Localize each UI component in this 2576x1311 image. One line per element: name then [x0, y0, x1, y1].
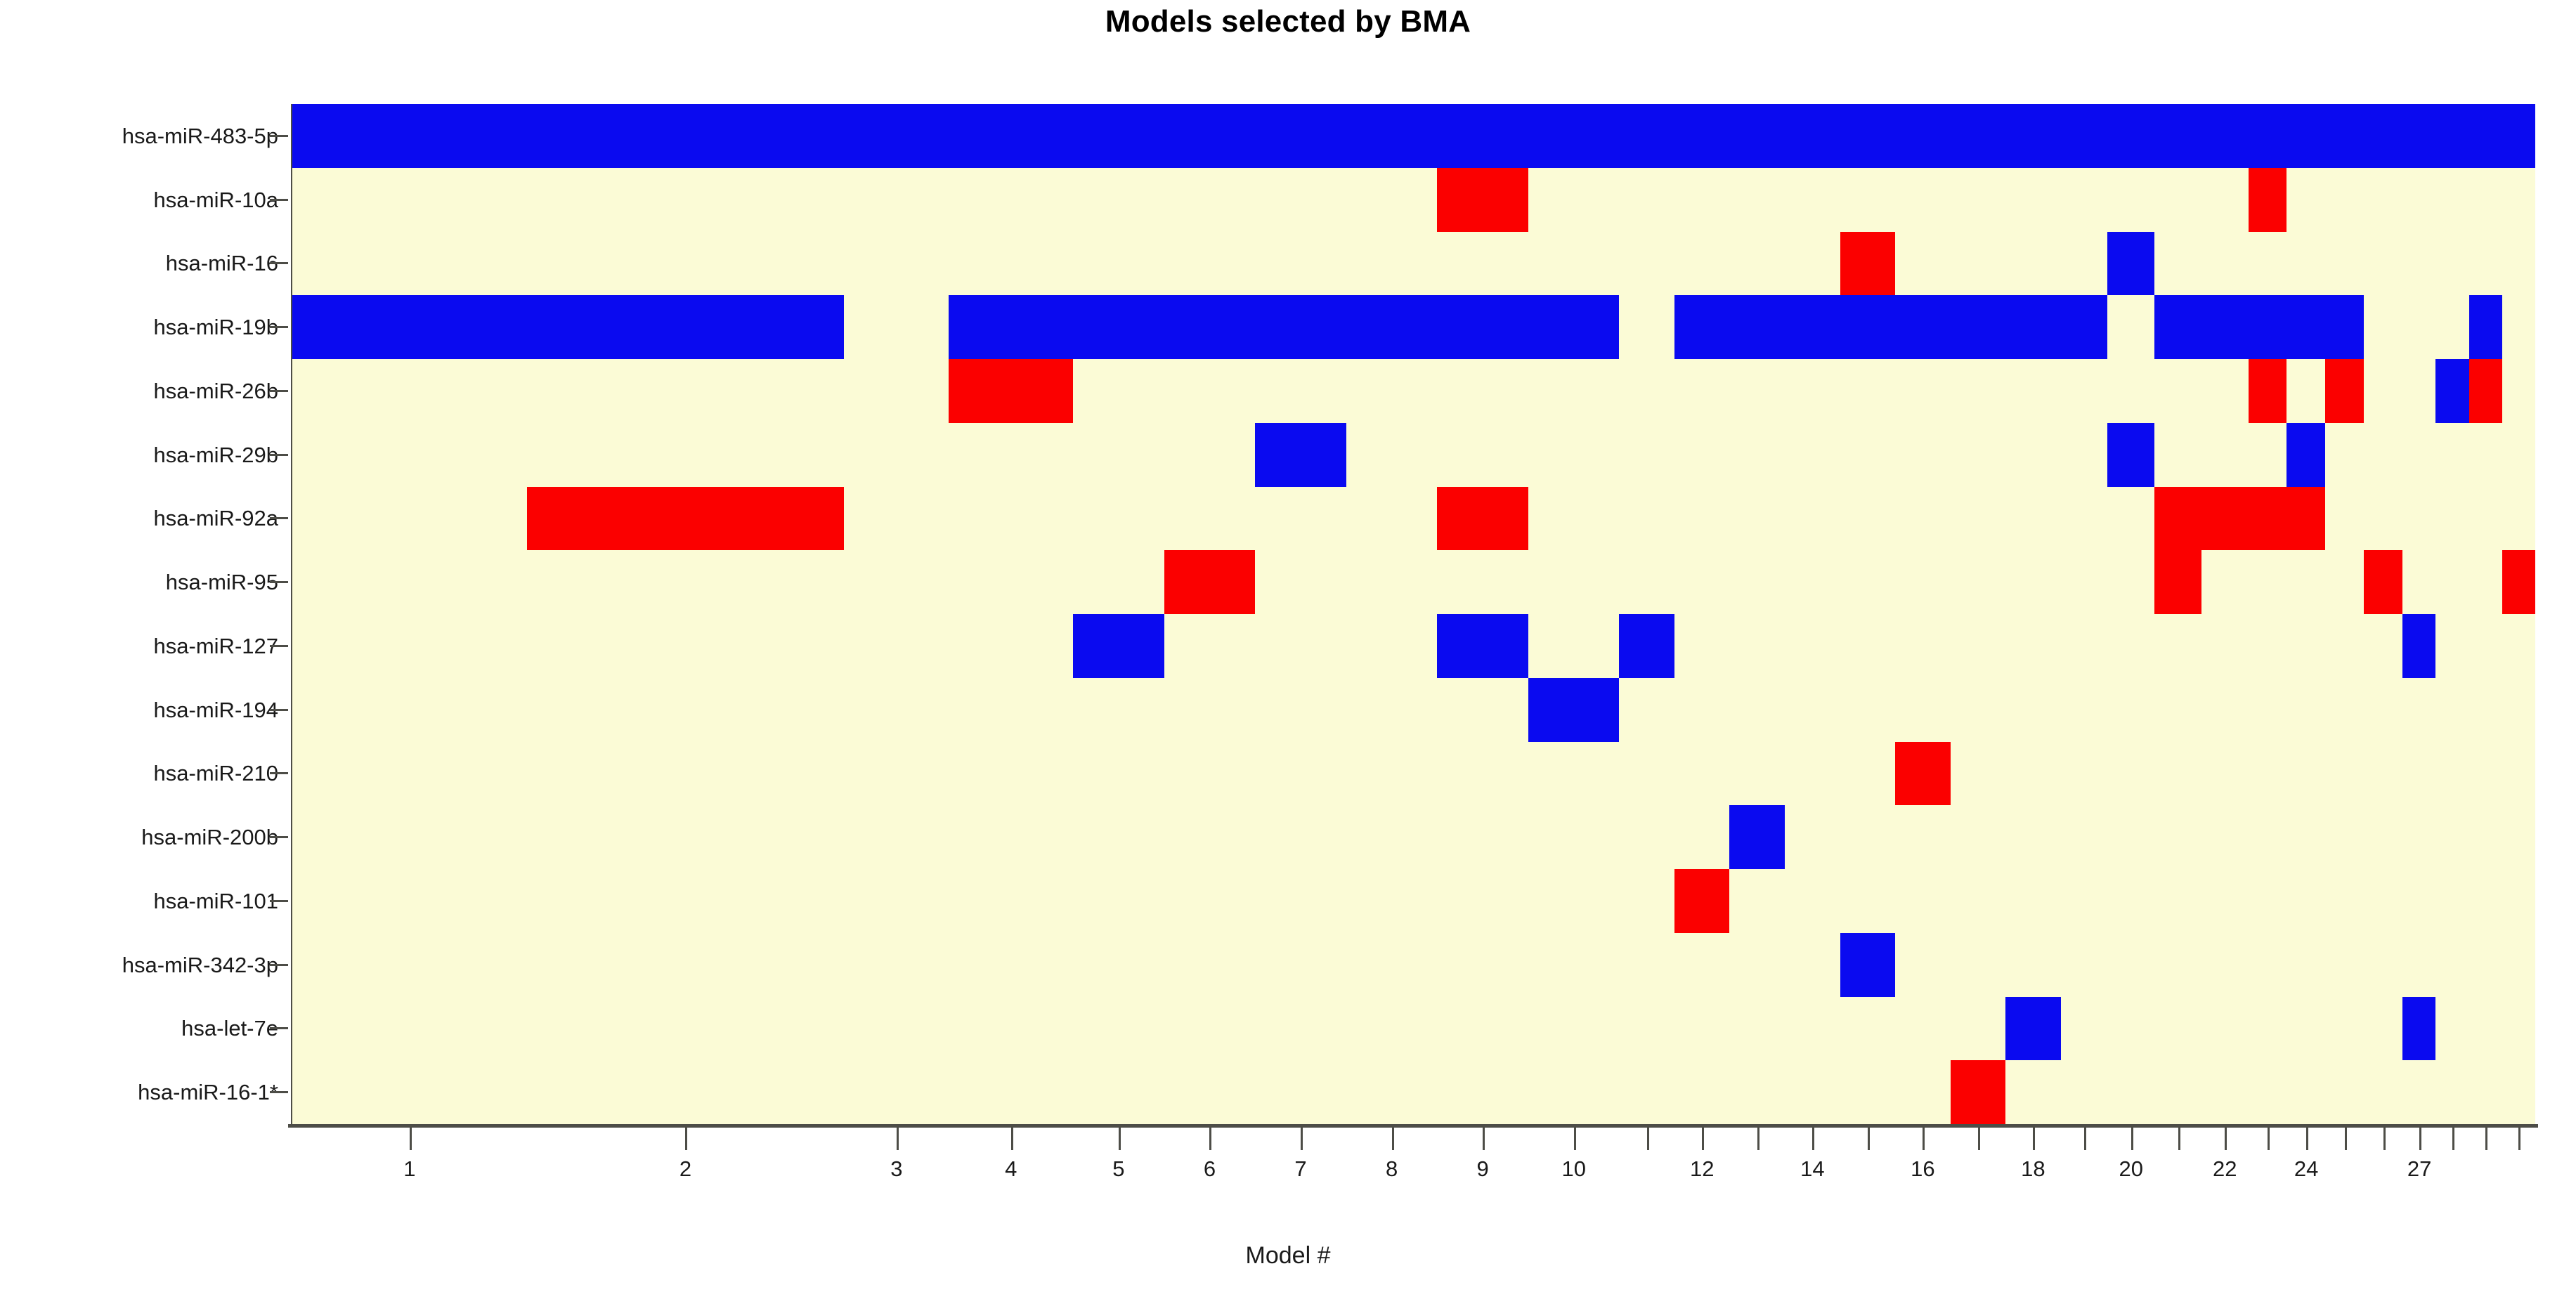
heatmap-cell — [1164, 423, 1256, 487]
x-axis-tick-mark — [1301, 1128, 1303, 1150]
heatmap-cell — [2364, 997, 2402, 1061]
x-axis-tick-mark — [2383, 1128, 2386, 1150]
x-axis-tick-mark — [2485, 1128, 2487, 1150]
heatmap-cell — [1951, 359, 2006, 423]
x-axis-tick-label: 20 — [2119, 1158, 2143, 1180]
heatmap-cell — [949, 168, 1073, 232]
x-axis-tick-mark — [1011, 1128, 1013, 1150]
heatmap-cell — [1528, 805, 1620, 869]
heatmap-cell — [949, 295, 1073, 359]
heatmap-cell — [1895, 1060, 1951, 1124]
heatmap-row — [292, 869, 2535, 933]
heatmap-cell — [1346, 359, 1438, 423]
heatmap-cell — [1729, 295, 1785, 359]
heatmap-cell — [1785, 869, 1840, 933]
heatmap-cell — [1619, 742, 1674, 806]
heatmap-cell — [1073, 805, 1164, 869]
heatmap-cell — [1255, 742, 1346, 806]
x-axis-tick-mark — [2345, 1128, 2347, 1150]
heatmap-cell — [1674, 232, 1730, 296]
y-axis-label: hsa-miR-26b — [154, 380, 278, 402]
heatmap-cell — [1164, 232, 1256, 296]
heatmap-cell — [2249, 997, 2287, 1061]
heatmap-cell — [292, 869, 527, 933]
heatmap-cell — [2107, 869, 2154, 933]
heatmap-cell — [1951, 614, 2006, 678]
heatmap-cell — [1840, 487, 1896, 551]
heatmap-cell — [1729, 168, 1785, 232]
heatmap-cell — [2201, 933, 2249, 997]
heatmap-cell — [2469, 104, 2502, 168]
heatmap-cell — [1674, 1060, 1730, 1124]
x-axis-tick-label: 22 — [2213, 1158, 2237, 1180]
heatmap-cell — [1619, 997, 1674, 1061]
heatmap-cell — [1895, 423, 1951, 487]
heatmap-cell — [2364, 423, 2402, 487]
heatmap-cell — [1895, 104, 1951, 168]
heatmap-row — [292, 1060, 2535, 1124]
heatmap-cell — [2325, 678, 2364, 742]
heatmap-cell — [2435, 933, 2468, 997]
heatmap-cell — [2061, 168, 2108, 232]
heatmap-cell — [2154, 1060, 2201, 1124]
heatmap-cell — [1437, 869, 1528, 933]
heatmap-cell — [2005, 550, 2061, 614]
heatmap-cell — [1951, 805, 2006, 869]
heatmap-cell — [2154, 359, 2201, 423]
heatmap-cell — [2201, 678, 2249, 742]
heatmap-cell — [2061, 1060, 2108, 1124]
heatmap-cell — [1840, 805, 1896, 869]
heatmap-cell — [2364, 487, 2402, 551]
heatmap-cell — [1785, 423, 1840, 487]
x-axis-tick-mark — [1757, 1128, 1759, 1150]
heatmap-cell — [2201, 805, 2249, 869]
heatmap-cell — [1255, 997, 1346, 1061]
heatmap-cell — [2249, 1060, 2287, 1124]
heatmap-cell — [1346, 1060, 1438, 1124]
heatmap-cell — [2502, 168, 2535, 232]
heatmap-cell — [2364, 359, 2402, 423]
heatmap-cell — [2286, 423, 2325, 487]
heatmap-cell — [2107, 933, 2154, 997]
heatmap-cell — [1437, 742, 1528, 806]
y-axis-label-row: hsa-let-7e — [0, 997, 288, 1061]
heatmap-cell — [1255, 104, 1346, 168]
y-axis-label-row: hsa-miR-342-3p — [0, 933, 288, 997]
heatmap-cell — [2005, 1060, 2061, 1124]
y-axis-label: hsa-miR-200b — [141, 826, 278, 848]
heatmap-cell — [1674, 805, 1730, 869]
heatmap-cell — [2469, 359, 2502, 423]
heatmap-cell — [2286, 232, 2325, 296]
heatmap-cell — [2286, 1060, 2325, 1124]
heatmap-cell — [292, 997, 527, 1061]
heatmap-cell — [1729, 423, 1785, 487]
heatmap-cell — [2107, 359, 2154, 423]
heatmap-cell — [1255, 869, 1346, 933]
heatmap-cell — [1840, 742, 1896, 806]
heatmap-cell — [949, 359, 1073, 423]
heatmap-cell — [2325, 805, 2364, 869]
heatmap-row — [292, 805, 2535, 869]
y-axis-tick-mark — [270, 709, 288, 711]
heatmap-cell — [2249, 487, 2287, 551]
heatmap-cell — [1840, 933, 1896, 997]
heatmap-cell — [2435, 997, 2468, 1061]
heatmap-cell — [2286, 997, 2325, 1061]
heatmap-cell — [2154, 997, 2201, 1061]
heatmap-cell — [1528, 359, 1620, 423]
heatmap-cell — [2107, 805, 2154, 869]
heatmap-cell — [949, 423, 1073, 487]
heatmap-cell — [844, 933, 949, 997]
heatmap-cell — [2005, 423, 2061, 487]
heatmap-cell — [1729, 869, 1785, 933]
heatmap-cell — [2364, 550, 2402, 614]
heatmap-cell — [844, 805, 949, 869]
heatmap-cell — [2005, 232, 2061, 296]
x-axis-tick-label: 5 — [1112, 1158, 1124, 1180]
y-axis-tick-mark — [270, 262, 288, 264]
y-axis-tick-mark — [270, 964, 288, 966]
heatmap-row — [292, 997, 2535, 1061]
heatmap-cell — [2286, 168, 2325, 232]
y-axis-tick-mark — [270, 517, 288, 519]
x-axis-tick-mark — [2033, 1128, 2035, 1150]
heatmap-cell — [1528, 550, 1620, 614]
heatmap-cell — [949, 869, 1073, 933]
heatmap-cell — [2469, 487, 2502, 551]
heatmap-cell — [2435, 423, 2468, 487]
heatmap-cell — [1951, 869, 2006, 933]
heatmap-cell — [292, 1060, 527, 1124]
heatmap-cell — [949, 997, 1073, 1061]
heatmap-cell — [1951, 678, 2006, 742]
heatmap-cell — [2364, 104, 2402, 168]
heatmap-cell — [1895, 933, 1951, 997]
heatmap-cell — [2286, 869, 2325, 933]
heatmap-row — [292, 104, 2535, 168]
heatmap-cell — [2325, 295, 2364, 359]
heatmap-cell — [2286, 359, 2325, 423]
heatmap-cell — [2502, 232, 2535, 296]
heatmap-cell — [1729, 1060, 1785, 1124]
heatmap-cell — [292, 423, 527, 487]
heatmap-cell — [1346, 933, 1438, 997]
heatmap-cell — [2201, 168, 2249, 232]
heatmap-cell — [1164, 359, 1256, 423]
heatmap-cell — [2435, 487, 2468, 551]
heatmap-cell — [527, 423, 845, 487]
heatmap-cell — [2061, 933, 2108, 997]
heatmap-cell — [1255, 168, 1346, 232]
y-axis-label: hsa-miR-10a — [154, 189, 278, 211]
heatmap-cell — [2249, 104, 2287, 168]
heatmap-cell — [2286, 295, 2325, 359]
heatmap-cell — [1073, 933, 1164, 997]
heatmap-cell — [1528, 295, 1620, 359]
heatmap-cell — [2249, 742, 2287, 806]
heatmap-cell — [2325, 997, 2364, 1061]
heatmap-cell — [1895, 295, 1951, 359]
heatmap-cell — [2364, 678, 2402, 742]
heatmap-cell — [527, 1060, 845, 1124]
heatmap-cell — [1073, 869, 1164, 933]
heatmap-grid — [292, 104, 2535, 1124]
heatmap-cell — [1951, 933, 2006, 997]
x-axis-title: Model # — [0, 1242, 2576, 1270]
heatmap-cell — [1164, 104, 1256, 168]
heatmap-cell — [2469, 423, 2502, 487]
heatmap-cell — [1840, 423, 1896, 487]
heatmap-cell — [2286, 805, 2325, 869]
heatmap-cell — [292, 678, 527, 742]
heatmap-cell — [2469, 742, 2502, 806]
heatmap-cell — [1619, 232, 1674, 296]
heatmap-cell — [2502, 997, 2535, 1061]
heatmap-cell — [2402, 550, 2435, 614]
heatmap-cell — [2435, 869, 2468, 933]
heatmap-cell — [1619, 1060, 1674, 1124]
heatmap-cell — [2249, 678, 2287, 742]
heatmap-cell — [1951, 487, 2006, 551]
x-axis-tick-label: 6 — [1204, 1158, 1216, 1180]
heatmap-cell — [2286, 933, 2325, 997]
heatmap-cell — [1073, 423, 1164, 487]
heatmap-cell — [1437, 1060, 1528, 1124]
heatmap-cell — [1255, 614, 1346, 678]
x-axis-tick-mark — [410, 1128, 412, 1150]
heatmap-row — [292, 550, 2535, 614]
x-axis-tick-label: 4 — [1005, 1158, 1017, 1180]
heatmap-cell — [844, 423, 949, 487]
heatmap-cell — [1840, 678, 1896, 742]
x-axis-tick-mark — [1209, 1128, 1211, 1150]
y-axis-label: hsa-miR-210 — [154, 762, 278, 784]
heatmap-cell — [1785, 1060, 1840, 1124]
heatmap-cell — [2286, 104, 2325, 168]
x-axis-tick-mark — [2419, 1128, 2421, 1150]
x-axis-tick-label: 3 — [890, 1158, 902, 1180]
heatmap-cell — [2107, 104, 2154, 168]
heatmap-cell — [1437, 805, 1528, 869]
heatmap-cell — [2154, 423, 2201, 487]
heatmap-cell — [2325, 487, 2364, 551]
heatmap-cell — [1528, 933, 1620, 997]
y-axis-label-row: hsa-miR-127 — [0, 614, 288, 678]
heatmap-cell — [949, 678, 1073, 742]
heatmap-cell — [2325, 869, 2364, 933]
heatmap-cell — [1785, 359, 1840, 423]
heatmap-cell — [2005, 359, 2061, 423]
heatmap-cell — [1674, 359, 1730, 423]
heatmap-cell — [527, 359, 845, 423]
heatmap-cell — [2402, 359, 2435, 423]
heatmap-cell — [527, 614, 845, 678]
heatmap-cell — [1255, 232, 1346, 296]
heatmap-cell — [2435, 1060, 2468, 1124]
heatmap-cell — [1164, 1060, 1256, 1124]
heatmap-cell — [1729, 678, 1785, 742]
heatmap-cell — [1785, 232, 1840, 296]
x-axis-tick-mark — [1119, 1128, 1121, 1150]
heatmap-cell — [2469, 933, 2502, 997]
y-axis-label-row: hsa-miR-16 — [0, 232, 288, 296]
heatmap-cell — [2154, 295, 2201, 359]
heatmap-cell — [2325, 359, 2364, 423]
heatmap-cell — [2061, 678, 2108, 742]
heatmap-cell — [1840, 168, 1896, 232]
heatmap-cell — [1840, 550, 1896, 614]
heatmap-cell — [1346, 168, 1438, 232]
heatmap-cell — [1785, 295, 1840, 359]
heatmap-cell — [1528, 104, 1620, 168]
heatmap-cell — [1785, 104, 1840, 168]
heatmap-cell — [1346, 614, 1438, 678]
x-axis-tick-label: 16 — [1911, 1158, 1934, 1180]
heatmap-cell — [1729, 933, 1785, 997]
heatmap-cell — [1073, 678, 1164, 742]
heatmap-cell — [2249, 232, 2287, 296]
x-axis-tick-mark — [2178, 1128, 2180, 1150]
heatmap-cell — [2107, 678, 2154, 742]
heatmap-cell — [1840, 614, 1896, 678]
heatmap-cell — [1255, 678, 1346, 742]
heatmap-cell — [2201, 550, 2249, 614]
heatmap-cell — [2107, 168, 2154, 232]
heatmap-cell — [949, 487, 1073, 551]
heatmap-cell — [2469, 232, 2502, 296]
heatmap-cell — [2502, 423, 2535, 487]
heatmap-cell — [1785, 487, 1840, 551]
y-axis-label: hsa-miR-16 — [166, 252, 278, 274]
x-axis-tick-mark — [2452, 1128, 2454, 1150]
heatmap-cell — [2249, 805, 2287, 869]
heatmap-cell — [1346, 869, 1438, 933]
heatmap-cell — [1619, 487, 1674, 551]
heatmap-cell — [1619, 678, 1674, 742]
heatmap-cell — [1619, 359, 1674, 423]
y-axis-label: hsa-miR-194 — [154, 699, 278, 721]
heatmap-cell — [1528, 168, 1620, 232]
x-axis-tick-label: 1 — [403, 1158, 415, 1180]
heatmap-cell — [2005, 869, 2061, 933]
x-axis-tick-mark — [1392, 1128, 1394, 1150]
heatmap-cell — [2364, 232, 2402, 296]
heatmap-cell — [2061, 487, 2108, 551]
y-axis-label-row: hsa-miR-29b — [0, 423, 288, 487]
heatmap-cell — [2154, 678, 2201, 742]
heatmap-cell — [1346, 742, 1438, 806]
heatmap-cell — [1528, 997, 1620, 1061]
heatmap-cell — [1255, 805, 1346, 869]
y-axis-tick-mark — [270, 454, 288, 456]
heatmap-cell — [2061, 423, 2108, 487]
heatmap-row — [292, 933, 2535, 997]
heatmap-cell — [949, 933, 1073, 997]
heatmap-cell — [527, 168, 845, 232]
heatmap-cell — [1785, 678, 1840, 742]
heatmap-cell — [2402, 487, 2435, 551]
heatmap-cell — [2107, 1060, 2154, 1124]
heatmap-cell — [2502, 359, 2535, 423]
heatmap-cell — [1255, 933, 1346, 997]
heatmap-cell — [1255, 295, 1346, 359]
heatmap-cell — [1073, 359, 1164, 423]
heatmap-cell — [2061, 295, 2108, 359]
x-axis-tick-mark — [1812, 1128, 1814, 1150]
heatmap-row — [292, 168, 2535, 232]
heatmap-cell — [1674, 869, 1730, 933]
x-axis-tick-mark — [2268, 1128, 2270, 1150]
heatmap-cell — [1674, 933, 1730, 997]
heatmap-cell — [2005, 805, 2061, 869]
heatmap-cell — [1674, 742, 1730, 806]
heatmap-cell — [2402, 614, 2435, 678]
y-axis-label: hsa-miR-101 — [154, 890, 278, 912]
heatmap-cell — [2502, 933, 2535, 997]
heatmap-cell — [292, 359, 527, 423]
heatmap-cell — [2201, 742, 2249, 806]
heatmap-cell — [2364, 742, 2402, 806]
x-axis-tick-mark — [1574, 1128, 1576, 1150]
heatmap-cell — [2502, 1060, 2535, 1124]
heatmap-cell — [2435, 104, 2468, 168]
heatmap-cell — [2107, 295, 2154, 359]
heatmap-cell — [2469, 168, 2502, 232]
heatmap-cell — [2249, 614, 2287, 678]
heatmap-cell — [1164, 997, 1256, 1061]
heatmap-cell — [1164, 614, 1256, 678]
heatmap-cell — [844, 1060, 949, 1124]
x-axis-tick-label: 8 — [1386, 1158, 1398, 1180]
heatmap-cell — [1840, 869, 1896, 933]
heatmap-cell — [527, 869, 845, 933]
y-axis-labels: hsa-miR-483-5phsa-miR-10ahsa-miR-16hsa-m… — [0, 104, 288, 1124]
heatmap-cell — [1437, 678, 1528, 742]
heatmap-cell — [292, 550, 527, 614]
y-axis-tick-mark — [270, 1027, 288, 1029]
heatmap-cell — [844, 678, 949, 742]
heatmap-cell — [844, 869, 949, 933]
heatmap-cell — [2061, 359, 2108, 423]
heatmap-cell — [1619, 869, 1674, 933]
heatmap-cell — [1346, 295, 1438, 359]
y-axis-label-row: hsa-miR-95 — [0, 550, 288, 614]
heatmap-cell — [1729, 742, 1785, 806]
heatmap-cell — [1164, 678, 1256, 742]
y-axis-tick-mark — [270, 390, 288, 392]
heatmap-cell — [2249, 933, 2287, 997]
heatmap-cell — [2364, 869, 2402, 933]
heatmap-cell — [2402, 295, 2435, 359]
heatmap-cell — [2005, 742, 2061, 806]
y-axis-label-row: hsa-miR-26b — [0, 359, 288, 423]
y-axis-label-row: hsa-miR-194 — [0, 678, 288, 742]
y-axis-tick-mark — [270, 900, 288, 902]
heatmap-cell — [1437, 423, 1528, 487]
heatmap-cell — [2201, 104, 2249, 168]
x-axis-tick-mark — [1923, 1128, 1925, 1150]
heatmap-cell — [1674, 295, 1730, 359]
heatmap-cell — [1164, 550, 1256, 614]
heatmap-row — [292, 678, 2535, 742]
heatmap-cell — [1951, 168, 2006, 232]
heatmap-cell — [1528, 423, 1620, 487]
bma-model-heatmap-figure: Models selected by BMA hsa-miR-483-5phsa… — [0, 0, 2576, 1311]
heatmap-cell — [1674, 487, 1730, 551]
